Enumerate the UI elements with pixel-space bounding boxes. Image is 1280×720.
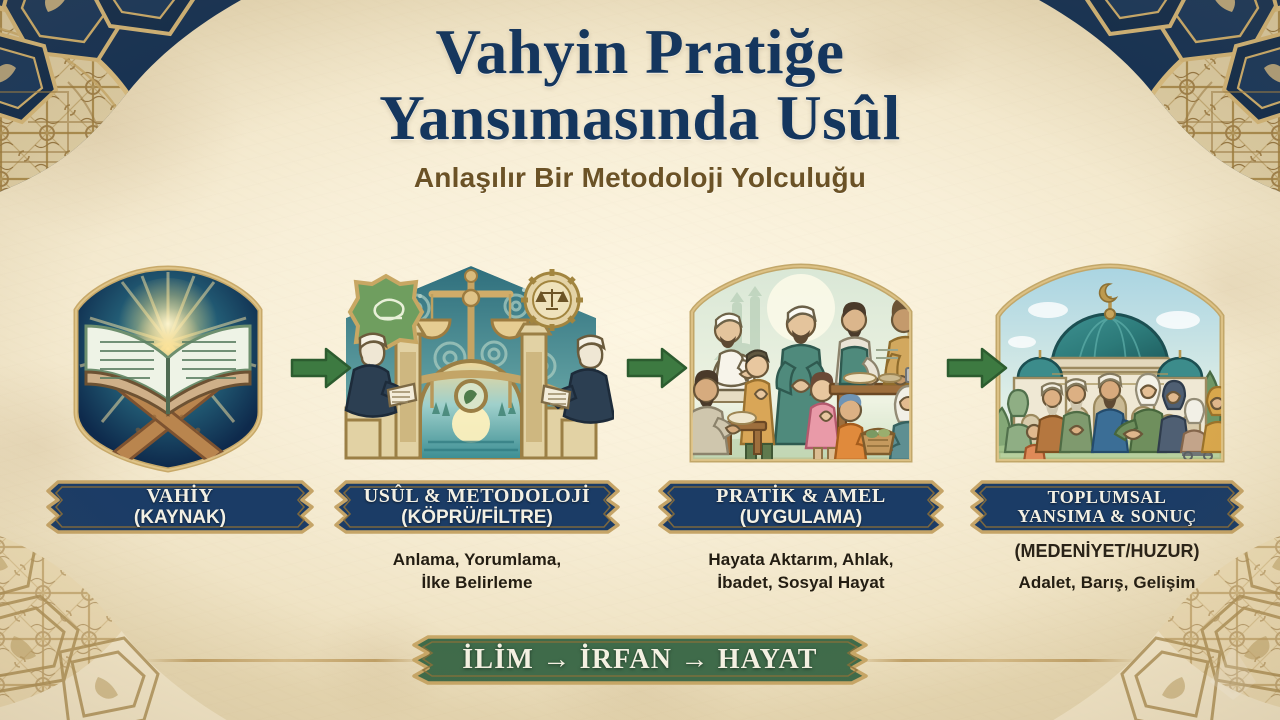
- stage-labels-row: VAHİY (KAYNAK) USÛL & METODOLOJİ (KÖPRÜ/…: [0, 478, 1280, 628]
- stage-caption-toplumsal: Adalet, Barış, Gelişim: [968, 571, 1246, 594]
- stage-caption-usul: Anlama, Yorumlama, İlke Belirleme: [332, 548, 622, 595]
- subtitle-text: Anlaşılır Bir Metodoloji Yolculuğu: [0, 162, 1280, 194]
- quran-on-rahle-icon: [62, 262, 274, 474]
- title-line-2: Yansımasında Usûl: [0, 88, 1280, 149]
- community-daily-life-icon: [662, 262, 940, 474]
- banner-line-2: (KÖPRÜ/FİLTRE): [401, 508, 553, 529]
- stage-label-usul: USÛL & METODOLOJİ (KÖPRÜ/FİLTRE) Anlama,…: [332, 478, 622, 595]
- divider-left: [144, 659, 426, 662]
- banner-vahiy: VAHİY (KAYNAK): [44, 478, 316, 536]
- mosque-community-icon: [982, 262, 1238, 474]
- stage-caption-pratik: Hayata Aktarım, Ahlak, İbadet, Sosyal Ha…: [656, 548, 946, 595]
- banner-usul-text: USÛL & METODOLOJİ (KÖPRÜ/FİLTRE): [332, 478, 622, 536]
- title-line-1: Vahyin Pratiğe: [436, 17, 845, 87]
- right-arrow-icon-3: [946, 345, 1008, 391]
- stage-label-pratik: PRATİK & AMEL (UYGULAMA) Hayata Aktarım,…: [656, 478, 946, 595]
- banner-line-1: VAHİY: [146, 486, 213, 508]
- stage-illustration-pratik: [662, 262, 940, 474]
- banner-line-1: PRATİK & AMEL: [716, 486, 886, 508]
- banner-usul: USÛL & METODOLOJİ (KÖPRÜ/FİLTRE): [332, 478, 622, 536]
- right-arrow-icon-1: [290, 345, 352, 391]
- caption-line-1: Anlama, Yorumlama,: [393, 550, 561, 569]
- banner-line-2: YANSIMA & SONUÇ: [1017, 507, 1196, 526]
- caption-line-2: İbadet, Sosyal Hayat: [717, 573, 884, 592]
- caption-line-1: Hayata Aktarım, Ahlak,: [708, 550, 893, 569]
- stage-illustration-row: [40, 262, 1240, 492]
- ribbon-text: İLİM → İRFAN → HAYAT: [398, 634, 882, 686]
- stage-label-vahiy: VAHİY (KAYNAK): [44, 478, 316, 536]
- right-arrow-icon-2: [626, 345, 688, 391]
- footer-ribbon: İLİM → İRFAN → HAYAT: [398, 634, 882, 686]
- stage-paren-toplumsal: (MEDENİYET/HUZUR): [968, 541, 1246, 562]
- stage-label-toplumsal: TOPLUMSAL YANSIMA & SONUÇ (MEDENİYET/HUZ…: [968, 478, 1246, 594]
- stage-illustration-vahiy: [62, 262, 274, 474]
- caption-line-2: İlke Belirleme: [421, 573, 532, 592]
- ornate-bridge-scales-icon: [328, 262, 614, 472]
- banner-line-1: USÛL & METODOLOJİ: [364, 486, 591, 508]
- banner-line-2: (UYGULAMA): [740, 508, 862, 529]
- watermark-icon: [1204, 642, 1262, 704]
- banner-line-2: (KAYNAK): [134, 508, 226, 529]
- infographic-poster: Vahyin Pratiğe Yansımasında Usûl Anlaşıl…: [0, 0, 1280, 720]
- divider-right: [854, 659, 1136, 662]
- banner-vahiy-text: VAHİY (KAYNAK): [44, 478, 316, 536]
- banner-pratik-text: PRATİK & AMEL (UYGULAMA): [656, 478, 946, 536]
- page-title: Vahyin Pratiğe Yansımasında Usûl Anlaşıl…: [0, 22, 1280, 194]
- stage-illustration-toplumsal: [982, 262, 1238, 474]
- banner-line-1: TOPLUMSAL: [1047, 488, 1166, 507]
- banner-pratik: PRATİK & AMEL (UYGULAMA): [656, 478, 946, 536]
- stage-illustration-usul: [328, 262, 614, 472]
- title-text: Vahyin Pratiğe Yansımasında Usûl: [0, 22, 1280, 149]
- banner-toplumsal: TOPLUMSAL YANSIMA & SONUÇ: [968, 478, 1246, 536]
- banner-toplumsal-text: TOPLUMSAL YANSIMA & SONUÇ: [968, 478, 1246, 536]
